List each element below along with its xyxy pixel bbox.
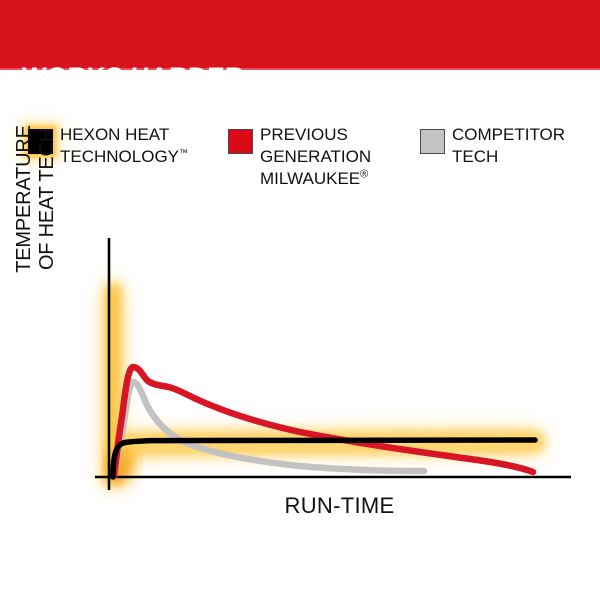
legend-line-1: COMPETITOR: [452, 124, 565, 146]
hexon-curve-glow: [113, 285, 535, 477]
chart-area: TEMPERATURE OF HEAT TECH RUN-TIME: [0, 225, 600, 525]
legend-label-hexon-heat-technology: HEXON HEAT TECHNOLOGY™: [60, 124, 188, 168]
legend-line-2: TECH: [452, 146, 565, 168]
legend-line-3: MILWAUKEE®: [260, 168, 371, 190]
legend-line-2: GENERATION: [260, 146, 371, 168]
legend-line-3-text: MILWAUKEE: [260, 169, 360, 188]
registered-mark: ®: [360, 168, 368, 180]
x-axis-label: RUN-TIME: [108, 493, 571, 519]
legend-swatch-grey-icon: [420, 129, 445, 154]
chart-svg: [0, 225, 600, 525]
y-axis-label-line-1: TEMPERATURE: [13, 84, 36, 314]
series-previous-generation-milwaukee: [114, 367, 533, 476]
infographic-root: WORKS HARDER IN FREEZING TEMPS HEXON HEA…: [0, 0, 600, 600]
trademark-mark: ™: [179, 147, 188, 157]
legend-label-previous-generation-milwaukee: PREVIOUS GENERATION MILWAUKEE®: [260, 124, 371, 190]
legend-line-1: HEXON HEAT: [60, 124, 188, 146]
y-axis-label: TEMPERATURE OF HEAT TECH: [13, 84, 77, 314]
legend-swatch-red-icon: [228, 129, 253, 154]
series-competitor-tech: [114, 382, 424, 476]
legend-line-2: TECHNOLOGY™: [60, 146, 188, 168]
banner-title-line-1: WORKS HARDER: [22, 63, 565, 92]
legend-label-competitor-tech: COMPETITOR TECH: [452, 124, 565, 168]
y-axis-label-line-2: OF HEAT TECH: [36, 84, 59, 314]
legend-line-2-text: TECHNOLOGY: [60, 147, 179, 166]
chart-legend: HEXON HEAT TECHNOLOGY™ PREVIOUS GENERATI…: [0, 124, 600, 204]
legend-line-1: PREVIOUS: [260, 124, 371, 146]
